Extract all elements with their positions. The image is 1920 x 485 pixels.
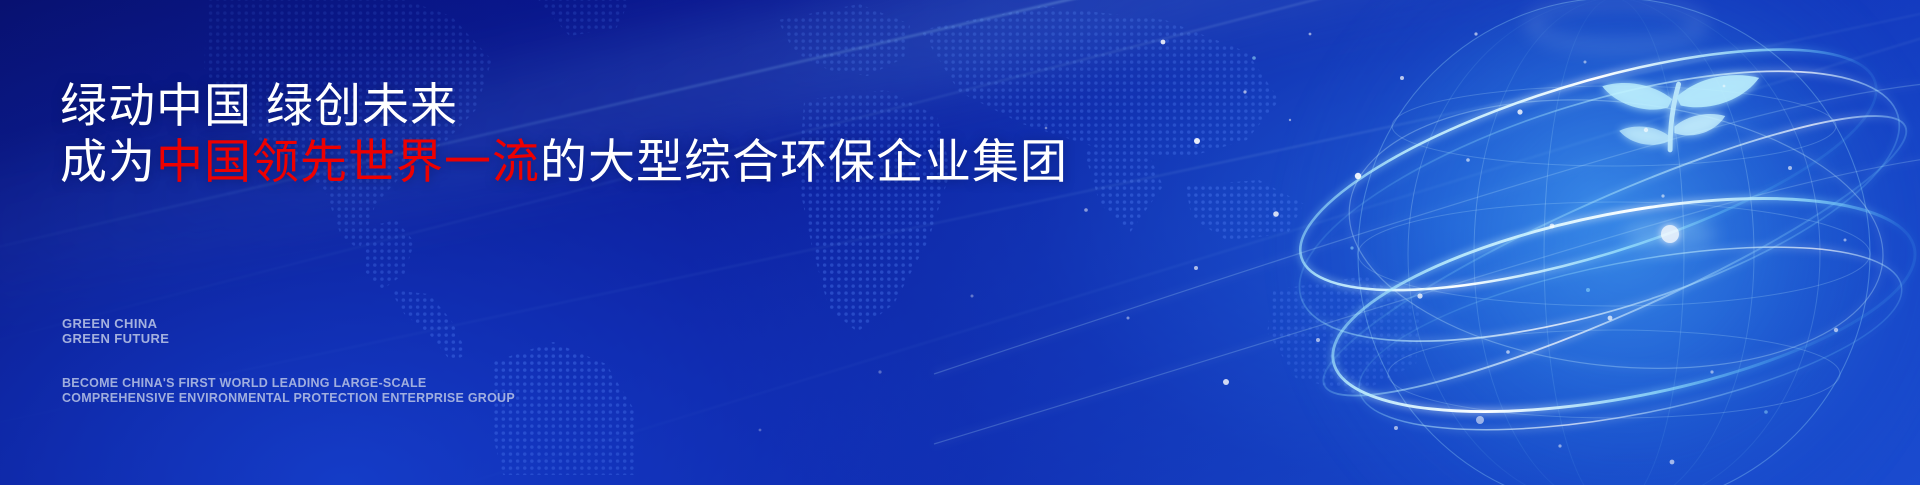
headline-highlight: 中国领先世界一流 <box>156 135 540 188</box>
hero-banner: 绿动中国 绿创未来 成为中国领先世界一流的大型综合环保企业集团 GREEN CH… <box>0 0 1920 485</box>
headline-line-2: 成为中国领先世界一流的大型综合环保企业集团 <box>60 134 1068 190</box>
globe-glow <box>1274 0 1920 485</box>
headline: 绿动中国 绿创未来 成为中国领先世界一流的大型综合环保企业集团 <box>60 78 1068 190</box>
tagline-line-2: GREEN FUTURE <box>62 331 169 346</box>
sprout-icon <box>1602 75 1759 150</box>
tagline-line-1: GREEN CHINA <box>62 316 169 331</box>
headline-prefix: 成为 <box>60 135 156 188</box>
tagline: GREEN CHINA GREEN FUTURE <box>62 316 169 346</box>
subtitle: BECOME CHINA'S FIRST WORLD LEADING LARGE… <box>62 376 515 406</box>
headline-line-1: 绿动中国 绿创未来 <box>60 78 1068 134</box>
subtitle-line-1: BECOME CHINA'S FIRST WORLD LEADING LARGE… <box>62 376 515 391</box>
subtitle-line-2: COMPREHENSIVE ENVIRONMENTAL PROTECTION E… <box>62 391 515 406</box>
wireframe-globe <box>1264 0 1920 485</box>
headline-suffix: 的大型综合环保企业集团 <box>540 135 1068 188</box>
banner-content: 绿动中国 绿创未来 成为中国领先世界一流的大型综合环保企业集团 GREEN CH… <box>60 0 1060 485</box>
